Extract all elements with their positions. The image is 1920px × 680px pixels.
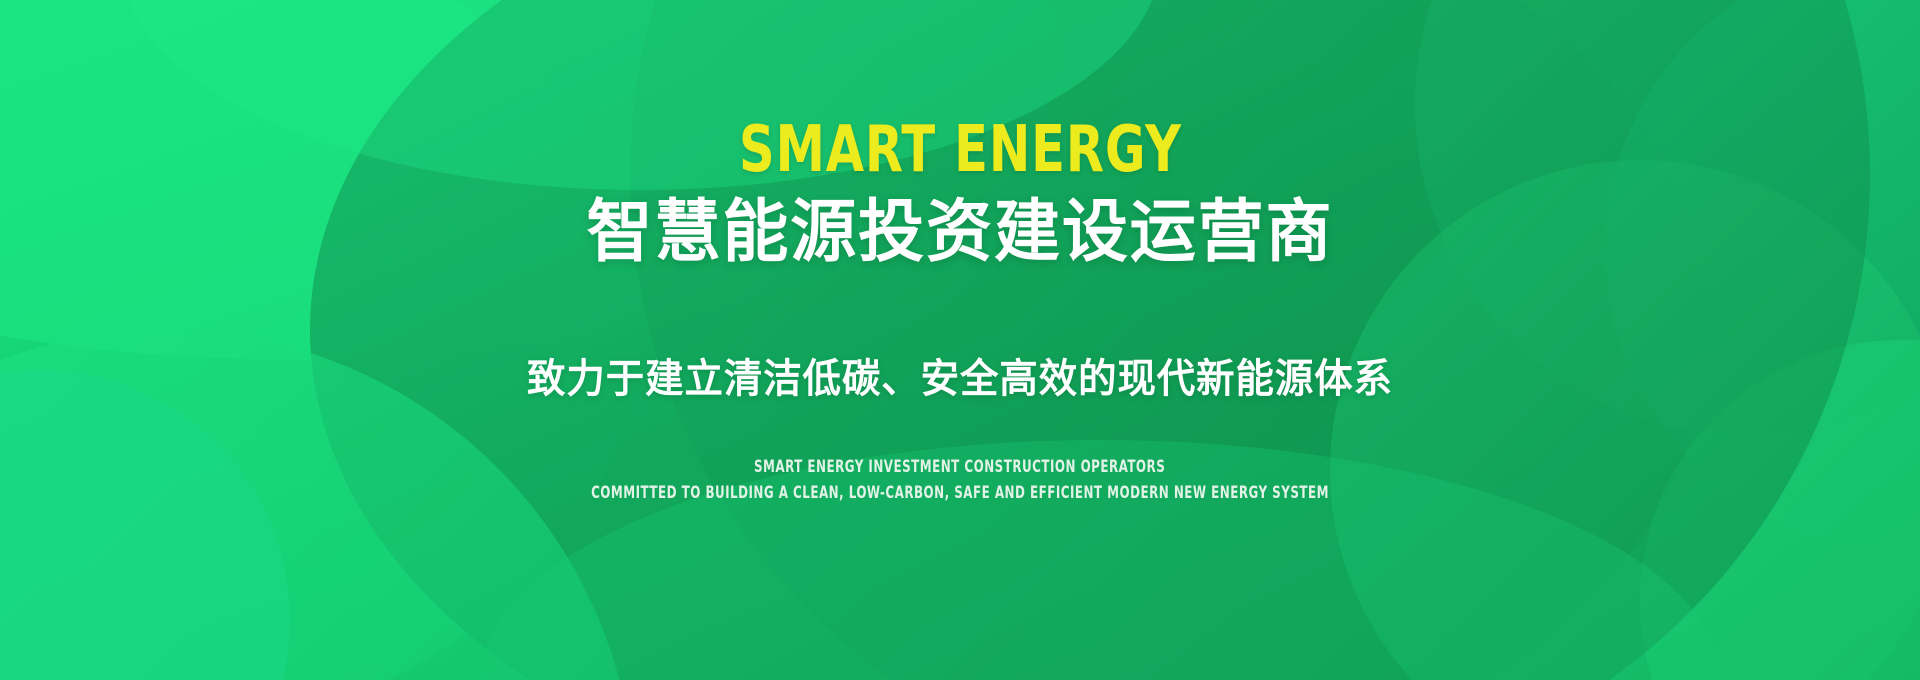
english-tagline-block: SMART ENERGY INVESTMENT CONSTRUCTION OPE… — [487, 456, 1433, 505]
english-tagline-secondary: COMMITTED TO BUILDING A CLEAN, LOW-CARBO… — [591, 482, 1329, 505]
banner-eyebrow: SMART ENERGY — [739, 118, 1182, 182]
banner-content: SMART ENERGY 智慧能源投资建设运营商 致力于建立清洁低碳、安全高效的… — [0, 0, 1920, 680]
banner-subtitle: 致力于建立清洁低碳、安全高效的现代新能源体系 — [527, 357, 1393, 401]
page-title: 智慧能源投资建设运营商 — [587, 196, 1334, 269]
english-tagline-primary: SMART ENERGY INVESTMENT CONSTRUCTION OPE… — [754, 456, 1165, 479]
hero-banner: SMART ENERGY 智慧能源投资建设运营商 致力于建立清洁低碳、安全高效的… — [0, 0, 1920, 680]
